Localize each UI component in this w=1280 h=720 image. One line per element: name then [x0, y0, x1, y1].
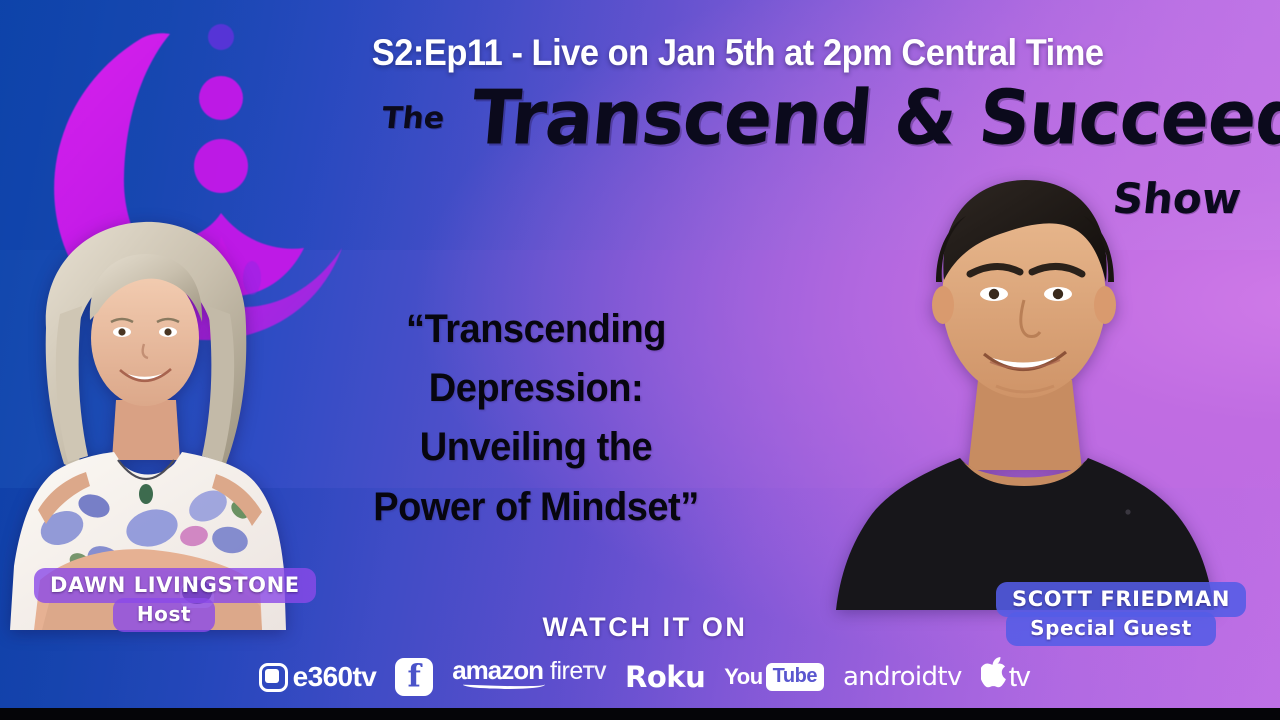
fire-wordmark: fire: [550, 657, 583, 686]
roku-wordmark: Roku: [625, 660, 705, 694]
platform-facebook[interactable]: f: [395, 655, 433, 699]
show-title-show: Show: [1111, 178, 1243, 220]
platform-e360tv[interactable]: e360tv: [259, 655, 377, 699]
platform-roku[interactable]: Roku: [625, 655, 705, 699]
e360tv-label: e360tv: [293, 661, 377, 693]
episode-title-line-1: “Transcending: [308, 300, 764, 359]
watch-it-on-heading: WATCH IT ON: [0, 612, 1280, 643]
e360tv-icon: [259, 663, 288, 692]
host-photo: [0, 210, 304, 630]
episode-title-line-4: Power of Mindset”: [308, 478, 764, 537]
youtube-tube-badge: Tube: [766, 663, 824, 691]
episode-title: “Transcending Depression: Unveiling the …: [308, 300, 764, 537]
platform-amazon-fire-tv[interactable]: amazon fire TV: [452, 655, 606, 699]
facebook-icon: f: [395, 658, 433, 696]
bottom-letterbox-bar: [0, 708, 1280, 720]
apple-icon: [981, 657, 1007, 694]
platform-apple-tv[interactable]: tv: [981, 655, 1030, 699]
amazon-wordmark: amazon: [452, 655, 543, 686]
platform-android-tv[interactable]: androidtv: [843, 655, 962, 699]
youtube-you-label: You: [724, 664, 762, 690]
episode-title-line-2: Depression:: [308, 359, 764, 418]
androidtv-wordmark: androidtv: [843, 662, 962, 692]
video-thumbnail-stage: S2:Ep11 - Live on Jan 5th at 2pm Central…: [0, 0, 1280, 720]
platform-logo-row: e360tv f amazon fire TV Roku You Tube an…: [0, 655, 1280, 699]
episode-header-line: S2:Ep11 - Live on Jan 5th at 2pm Central…: [45, 32, 1235, 74]
show-title-the: The: [380, 104, 445, 134]
firetv-tv-label: TV: [583, 663, 606, 685]
episode-title-line-3: Unveiling the: [308, 418, 764, 477]
show-title-name: Transcend & Succeed: [469, 80, 1280, 155]
appletv-tv-label: tv: [1009, 661, 1030, 694]
facebook-f-glyph: f: [395, 662, 433, 693]
platform-youtube[interactable]: You Tube: [724, 655, 824, 699]
